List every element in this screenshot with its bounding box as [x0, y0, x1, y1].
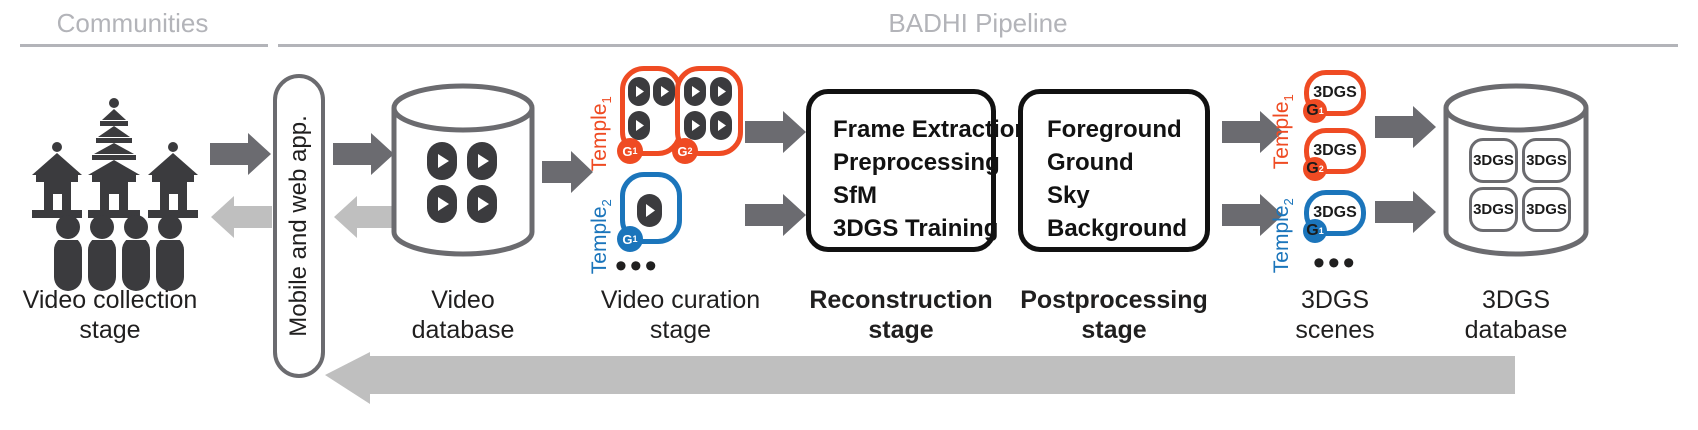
scene-capsule-temple2-g1[interactable]: 3DGS G1 [1304, 190, 1366, 236]
postprocessing-stage-box[interactable]: Foreground Ground Sky Background [1018, 89, 1210, 252]
curation-group-temple1-g2[interactable]: G2 [675, 66, 743, 156]
chip-label: 3DGS [1473, 201, 1514, 218]
arrow-video-database-to-app [333, 195, 395, 239]
reconstruction-item: 3DGS Training [833, 213, 991, 246]
arrow-scenes-to-database-top [1375, 105, 1437, 149]
caption-video-curation: Video curation stage [598, 285, 763, 345]
curation-badge-temple1-g1: G1 [617, 138, 643, 164]
caption-postprocessing: Postprocessing stage [1014, 285, 1214, 345]
gs-database-cylinder: 3DGS 3DGS 3DGS 3DGS [1442, 82, 1590, 263]
arrow-curation-to-reconstruction-bottom [745, 193, 807, 237]
arrow-scenes-to-database-bottom [1375, 190, 1437, 234]
temple-label-text: Temple [588, 103, 611, 171]
community-icons [10, 75, 210, 245]
section-label-communities: Communities [20, 8, 245, 39]
curation-group-temple1-g1[interactable]: G1 [620, 66, 682, 156]
scene-badge-temple2-g1: G1 [1303, 219, 1327, 243]
badge-text: G [1306, 222, 1318, 240]
curation-ellipsis: ••• [615, 258, 660, 275]
postprocessing-items: Foreground Ground Sky Background [1047, 114, 1205, 246]
video-database-cylinder [390, 82, 536, 263]
scenes-temple1-label: Temple1 [1270, 94, 1296, 169]
curation-temple1-label: Temple1 [588, 96, 614, 171]
scene-capsule-temple1-g1[interactable]: 3DGS G1 [1304, 70, 1366, 116]
caption-line: database [1438, 315, 1594, 345]
caption-line: 3DGS [1438, 285, 1594, 315]
badge-sub: 2 [688, 146, 693, 156]
caption-video-collection: Video collection stage [10, 285, 210, 345]
curation-badge-temple1-g2: G2 [672, 138, 698, 164]
gs-database-chip[interactable]: 3DGS [1469, 138, 1518, 183]
caption-line: Video collection [10, 285, 210, 315]
caption-video-database: Video database [385, 285, 541, 345]
arrow-app-to-collection [210, 195, 272, 239]
mobile-and-web-app-panel[interactable]: Mobile and web app. [273, 74, 325, 378]
badge-text: G [1306, 160, 1318, 178]
scene-capsule-temple1-g2[interactable]: 3DGS G2 [1304, 128, 1366, 174]
reconstruction-stage-box[interactable]: Frame Extraction Preprocessing SfM 3DGS … [806, 89, 996, 252]
temple-label-sub: 2 [599, 199, 614, 206]
arrow-app-to-video-database [333, 132, 395, 176]
chip-label: 3DGS [1473, 152, 1514, 169]
caption-line: Reconstruction [806, 285, 996, 315]
caption-line: stage [598, 315, 763, 345]
badge-text: G [622, 232, 632, 247]
arrow-video-database-to-curation [542, 150, 594, 194]
badge-sub: 1 [633, 234, 638, 244]
caption-reconstruction: Reconstruction stage [806, 285, 996, 345]
scene-badge-temple1-g2: G2 [1303, 157, 1327, 181]
gs-database-chip[interactable]: 3DGS [1469, 187, 1518, 232]
temple-label-text: Temple [1270, 205, 1293, 273]
badge-sub: 1 [1319, 106, 1324, 116]
caption-line: stage [10, 315, 210, 345]
badge-text: G [1306, 102, 1318, 120]
curation-group-temple2-g1[interactable]: G1 [620, 172, 682, 244]
scene-badge-temple1-g1: G1 [1303, 99, 1327, 123]
curation-temple2-label: Temple2 [588, 199, 614, 274]
badge-sub: 2 [1319, 164, 1324, 174]
section-label-badhi-pipeline: BADHI Pipeline [278, 8, 1678, 39]
caption-line: scenes [1265, 315, 1405, 345]
temple-label-sub: 1 [1281, 94, 1296, 101]
arrow-collection-to-app [210, 132, 272, 176]
caption-line: Postprocessing [1014, 285, 1214, 315]
feedback-arrow-database-to-app [325, 352, 1515, 409]
temple-label-sub: 2 [1281, 198, 1296, 205]
reconstruction-item: Preprocessing [833, 147, 991, 180]
pipeline-diagram: Communities BADHI Pipeline [0, 0, 1698, 430]
temple-label-text: Temple [588, 206, 611, 274]
section-rule-communities [20, 44, 268, 47]
badge-text: G [677, 144, 687, 159]
reconstruction-items: Frame Extraction Preprocessing SfM 3DGS … [833, 114, 991, 246]
caption-3dgs-database: 3DGS database [1438, 285, 1594, 345]
postprocessing-item: Ground [1047, 147, 1205, 180]
chip-label: 3DGS [1526, 201, 1567, 218]
reconstruction-item: Frame Extraction [833, 114, 991, 147]
reconstruction-item: SfM [833, 180, 991, 213]
badge-sub: 1 [633, 146, 638, 156]
scenes-temple2-label: Temple2 [1270, 198, 1296, 273]
postprocessing-item: Sky [1047, 180, 1205, 213]
caption-line: stage [1014, 315, 1214, 345]
postprocessing-item: Foreground [1047, 114, 1205, 147]
caption-line: 3DGS [1265, 285, 1405, 315]
section-rule-badhi-pipeline [278, 44, 1678, 47]
badge-text: G [622, 144, 632, 159]
arrow-curation-to-reconstruction-top [745, 110, 807, 154]
chip-label: 3DGS [1526, 152, 1567, 169]
caption-line: stage [806, 315, 996, 345]
scenes-ellipsis: ••• [1313, 255, 1358, 272]
temple-label-text: Temple [1270, 101, 1293, 169]
caption-line: database [385, 315, 541, 345]
mobile-app-label: Mobile and web app. [285, 115, 313, 336]
caption-3dgs-scenes: 3DGS scenes [1265, 285, 1405, 345]
badge-sub: 1 [1319, 226, 1324, 236]
temple-label-sub: 1 [599, 96, 614, 103]
caption-line: Video curation [598, 285, 763, 315]
gs-database-chip[interactable]: 3DGS [1522, 187, 1571, 232]
gs-database-chip[interactable]: 3DGS [1522, 138, 1571, 183]
caption-line: Video [385, 285, 541, 315]
postprocessing-item: Background [1047, 213, 1205, 246]
